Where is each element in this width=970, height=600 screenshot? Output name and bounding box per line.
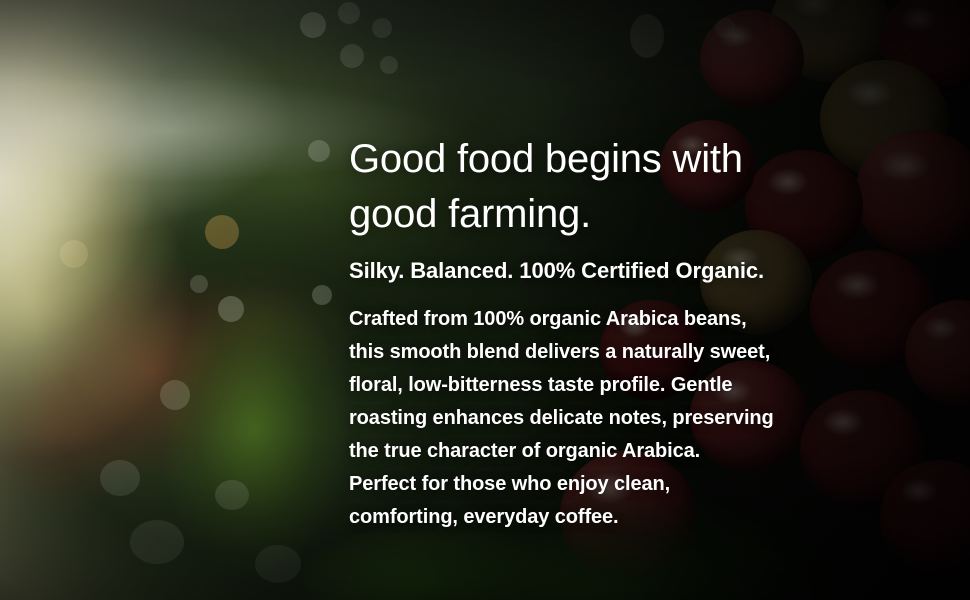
banner-body-copy: Crafted from 100% organic Arabica beans,… (349, 303, 869, 534)
banner-subtitle: Silky. Balanced. 100% Certified Organic. (349, 256, 869, 286)
promo-banner: Good food begins with good farming. Silk… (0, 0, 970, 600)
banner-text-block: Good food begins with good farming. Silk… (349, 132, 869, 534)
banner-headline: Good food begins with good farming. (349, 132, 869, 242)
